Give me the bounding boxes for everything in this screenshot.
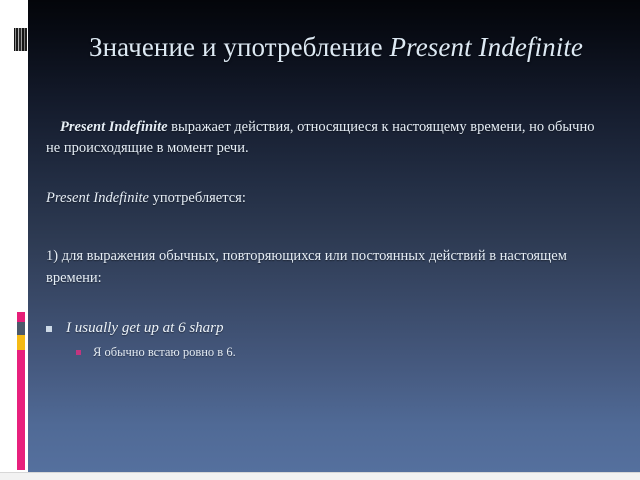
example-english-text: I usually get up at 6 sharp [66,319,224,339]
definition-paragraph: Present Indefinite выражает действия, от… [46,117,606,159]
pink-accent-bar-top [17,312,25,322]
square-bullet-light-icon [46,326,52,332]
slide-content: Значение и употребление Present Indefini… [28,0,640,473]
presentation-slide: Значение и употребление Present Indefini… [0,0,640,480]
striped-bar-decoration-icon [14,28,27,51]
slate-accent-bar [17,322,25,335]
slide-title-english: Present Indefinite [390,32,584,62]
example-russian-text: Я обычно встаю ровно в 6. [93,344,236,360]
example-bullet-russian: Я обычно встаю ровно в 6. [76,344,576,360]
pink-accent-bar-long [17,350,25,470]
slide-title: Значение и употребление Present Indefini… [62,30,610,65]
slide-title-prefix: Значение и употребление [89,32,390,62]
definition-term: Present Indefinite [60,119,168,135]
gold-accent-bar [17,335,25,350]
square-bullet-pink-icon [76,350,81,355]
slide-bottom-strip [0,472,640,480]
example-bullet-english: I usually get up at 6 sharp [46,319,586,339]
usage-intro-body: употребляется: [149,190,246,206]
usage-item-1: 1) для выражения обычных, повторяющихся … [46,246,624,290]
usage-intro-term: Present Indefinite [46,190,149,206]
usage-intro-paragraph: Present Indefinite употребляется: [46,188,606,209]
